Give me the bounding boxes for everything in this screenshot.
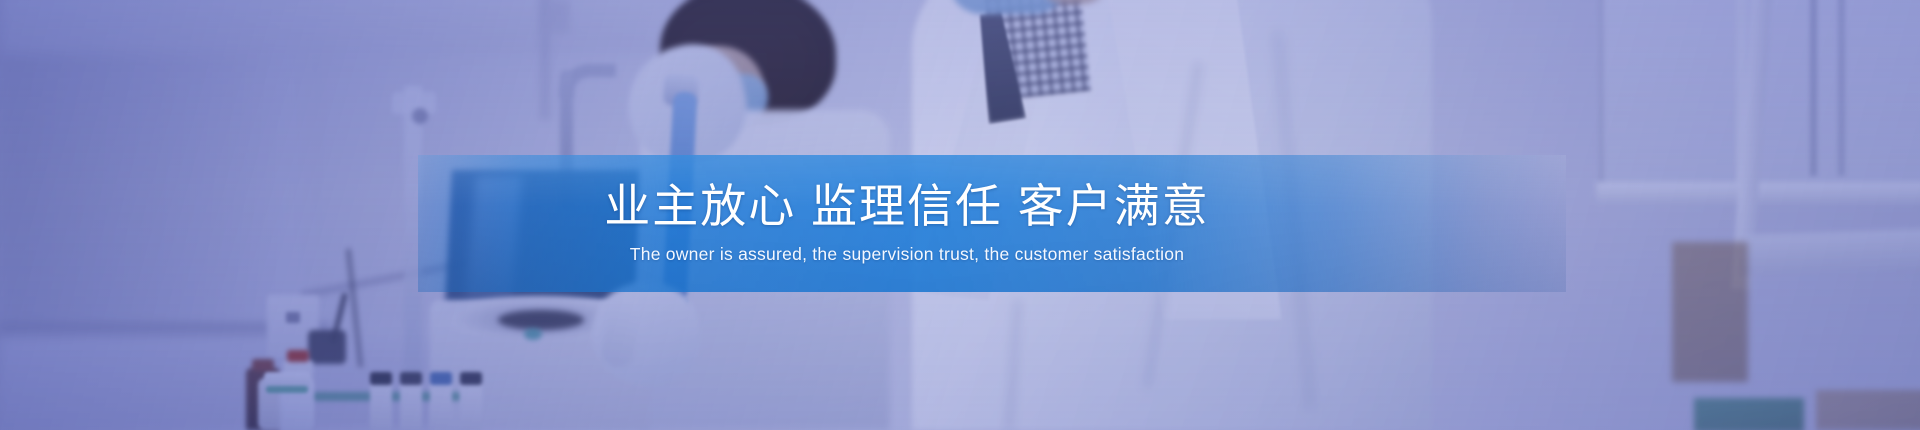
- slogan-headline: 业主放心 监理信任 客户满意: [604, 182, 1210, 232]
- slogan-text-block: 业主放心 监理信任 客户满意 The owner is assured, the…: [418, 155, 1566, 292]
- slogan-subheadline: The owner is assured, the supervision tr…: [630, 244, 1184, 265]
- hero-banner: 业主放心 监理信任 客户满意 The owner is assured, the…: [0, 0, 1920, 430]
